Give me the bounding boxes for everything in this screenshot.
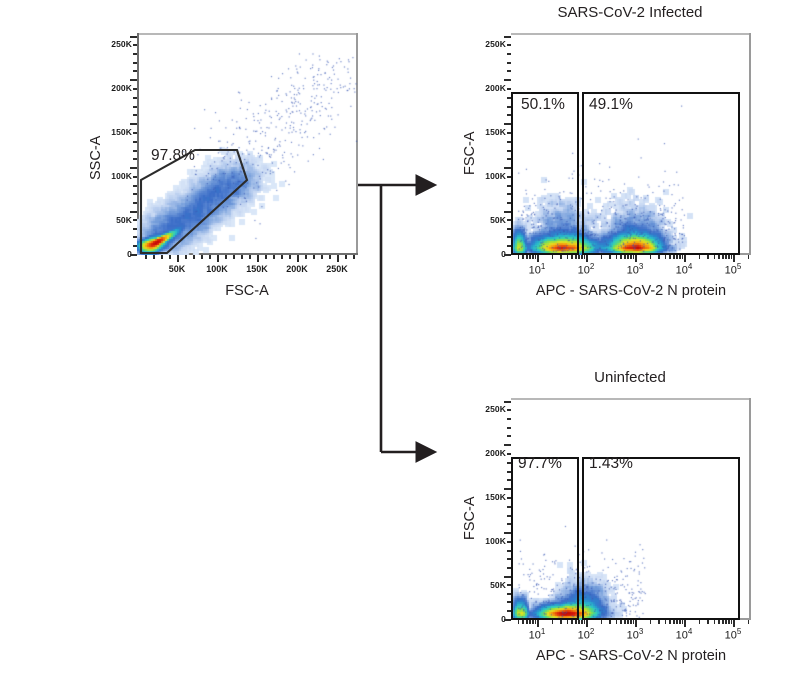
- panel2-xtick-1e5: 105: [713, 262, 753, 277]
- panel2-y-axis-title: FSC-A: [462, 132, 478, 176]
- panel3-title: Uninfected: [500, 369, 760, 386]
- panel3-n-protein-negative-gate[interactable]: [511, 457, 579, 620]
- panel2-negative-gate-percentage: 50.1%: [521, 96, 565, 114]
- panel3-ytick-100k: 100K: [470, 536, 506, 546]
- panel2-xtick-1e2: 102: [566, 262, 606, 277]
- panel3-xtick-1e5: 105: [713, 627, 753, 642]
- panel2-xtick-1e4: 104: [664, 262, 704, 277]
- panel3-xtick-1e4: 104: [664, 627, 704, 642]
- panel2-x-axis-title: APC - SARS-CoV-2 N protein: [511, 283, 751, 299]
- panel2-ytick-100k: 100K: [470, 171, 506, 181]
- panel1-ytick-200k: 200K: [96, 83, 132, 93]
- panel1-ytick-50k: 50K: [96, 215, 132, 225]
- panel1-xtick-250k: 250K: [317, 264, 357, 274]
- panel2-ytick-0: 0: [470, 249, 506, 259]
- panel3-n-protein-positive-gate[interactable]: [582, 457, 740, 620]
- panel3-ytick-200k: 200K: [470, 448, 506, 458]
- panel3-y-axis-title: FSC-A: [462, 497, 478, 541]
- panel2-xtick-1e3: 103: [615, 262, 655, 277]
- panel3-xtick-1e3: 103: [615, 627, 655, 642]
- panel1-ytick-100k: 100K: [96, 171, 132, 181]
- panel1-ytick-150k: 150K: [96, 127, 132, 137]
- panel2-ytick-250k: 250K: [470, 39, 506, 49]
- panel1-plot-area: [137, 33, 358, 255]
- panel3-ytick-250k: 250K: [470, 404, 506, 414]
- panel3-x-axis-title: APC - SARS-CoV-2 N protein: [511, 648, 751, 664]
- panel1-xtick-100k: 100K: [197, 264, 237, 274]
- panel3-ytick-50k: 50K: [470, 580, 506, 590]
- panel1-x-axis-title: FSC-A: [177, 283, 317, 299]
- panel1-ytick-0: 0: [96, 249, 132, 259]
- panel1-xtick-200k: 200K: [277, 264, 317, 274]
- panel3-plot-area: [511, 398, 751, 620]
- panel2-ytick-50k: 50K: [470, 215, 506, 225]
- panel3-negative-gate-percentage: 97.7%: [518, 455, 562, 473]
- panel1-ytick-250k: 250K: [96, 39, 132, 49]
- panel2-xtick-1e1: 101: [517, 262, 557, 277]
- panel2-ytick-200k: 200K: [470, 83, 506, 93]
- panel3-ytick-0: 0: [470, 614, 506, 624]
- panel1-xtick-150k: 150K: [237, 264, 277, 274]
- panel2-positive-gate-percentage: 49.1%: [589, 96, 633, 114]
- panel1-lymphocyte-gate[interactable]: [137, 33, 358, 255]
- panel2-n-protein-positive-gate[interactable]: [582, 92, 740, 255]
- panel3-positive-gate-percentage: 1.43%: [589, 455, 633, 473]
- panel2-title: SARS-CoV-2 Infected: [500, 4, 760, 21]
- panel3-xtick-1e1: 101: [517, 627, 557, 642]
- panel1-gate-percentage: 97.8%: [151, 147, 195, 165]
- panel1-xtick-50k: 50K: [157, 264, 197, 274]
- panel2-n-protein-negative-gate[interactable]: [511, 92, 579, 255]
- panel2-ytick-150k: 150K: [470, 127, 506, 137]
- panel3-ytick-150k: 150K: [470, 492, 506, 502]
- panel2-plot-area: [511, 33, 751, 255]
- panel3-xtick-1e2: 102: [566, 627, 606, 642]
